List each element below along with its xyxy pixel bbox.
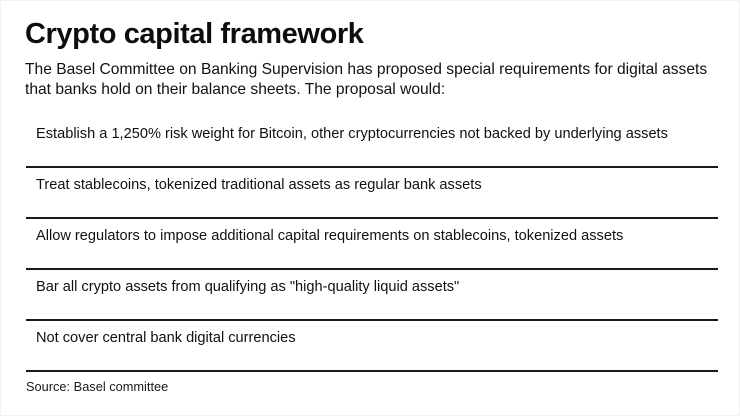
page-title: Crypto capital framework bbox=[25, 17, 364, 51]
list-item-label: Not cover central bank digital currencie… bbox=[36, 329, 717, 347]
list-item-label: Bar all crypto assets from qualifying as… bbox=[36, 278, 717, 296]
list-item: Establish a 1,250% risk weight for Bitco… bbox=[1, 117, 740, 168]
subtitle-description: The Basel Committee on Banking Supervisi… bbox=[25, 60, 715, 99]
infographic-card: Crypto capital framework The Basel Commi… bbox=[0, 0, 740, 416]
list-item-label: Establish a 1,250% risk weight for Bitco… bbox=[36, 125, 717, 143]
list-item: Treat stablecoins, tokenized traditional… bbox=[1, 168, 740, 219]
list-item-divider bbox=[26, 370, 718, 372]
list-item: Not cover central bank digital currencie… bbox=[1, 321, 740, 372]
list-item: Allow regulators to impose additional ca… bbox=[1, 219, 740, 270]
list-item-label: Allow regulators to impose additional ca… bbox=[36, 227, 717, 245]
list-item: Bar all crypto assets from qualifying as… bbox=[1, 270, 740, 321]
proposal-list: Establish a 1,250% risk weight for Bitco… bbox=[1, 117, 740, 372]
list-item-label: Treat stablecoins, tokenized traditional… bbox=[36, 176, 717, 194]
source-attribution: Source: Basel committee bbox=[26, 379, 168, 395]
